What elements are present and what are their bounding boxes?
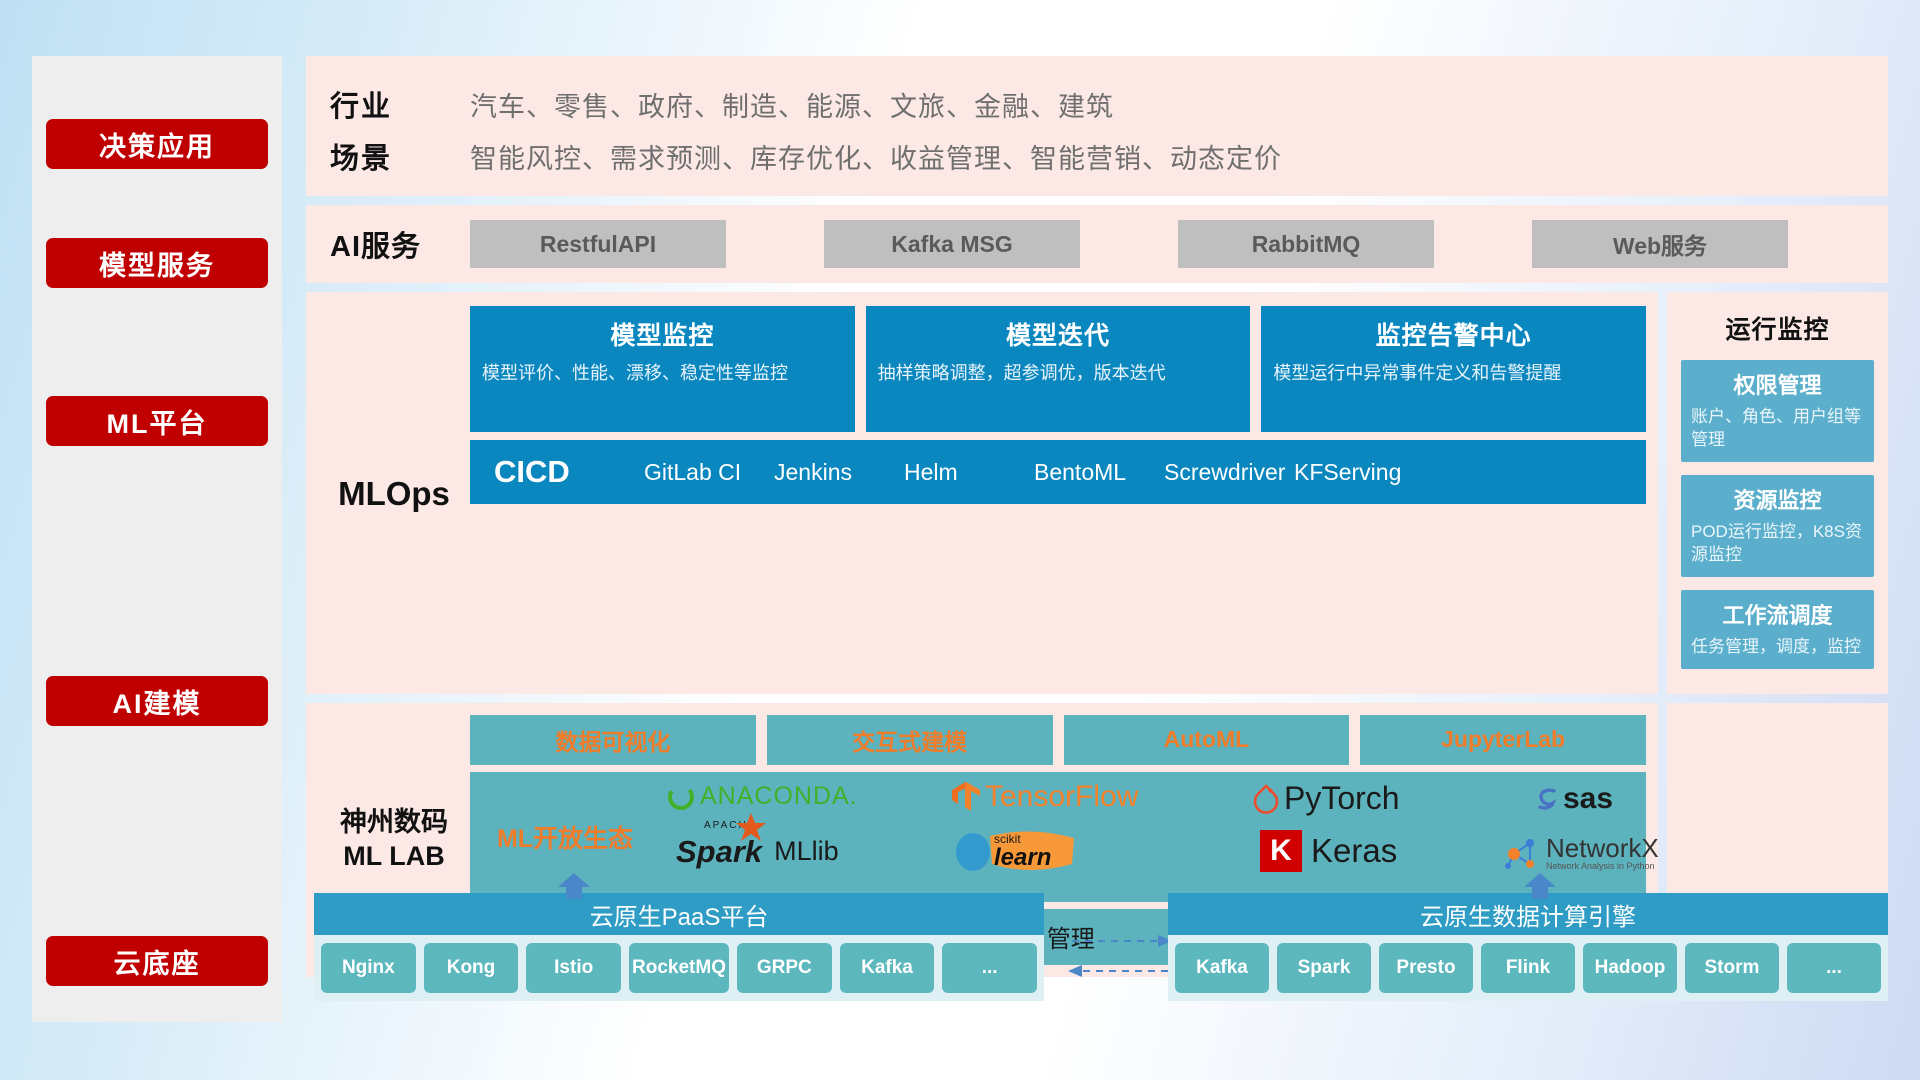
- card-title: 资源监控: [1691, 483, 1864, 515]
- band-mlops: MLOps 模型监控 模型评价、性能、漂移、稳定性等监控 模型迭代 抽样策略调整…: [306, 292, 1658, 694]
- architecture-main: 行业 汽车、零售、政府、制造、能源、文旅、金融、建筑 场景 智能风控、需求预测、…: [306, 56, 1888, 986]
- keras-logo: K Keras: [1260, 830, 1397, 872]
- card-desc: 模型运行中异常事件定义和告警提醒: [1273, 361, 1634, 385]
- up-arrow-icon-data-engine: [1520, 873, 1560, 899]
- mlops-content: 模型监控 模型评价、性能、漂移、稳定性等监控 模型迭代 抽样策略调整，超参调优，…: [470, 306, 1646, 682]
- rail-chip-cloud-base[interactable]: 云底座: [46, 936, 268, 986]
- spark-mllib-logo: APACHE Spark MLlib: [676, 834, 839, 870]
- ai-service-box-kafka-msg[interactable]: Kafka MSG: [824, 220, 1080, 268]
- row-industry: 行业 汽车、零售、政府、制造、能源、文旅、金融、建筑: [330, 78, 1888, 130]
- anaconda-logo: ANACONDA.: [666, 782, 858, 812]
- ml-lab-label-line1: 神州数码: [340, 806, 448, 840]
- rail-chip-ai-modeling[interactable]: AI建模: [46, 676, 268, 726]
- lab-tool-jupyterlab[interactable]: JupyterLab: [1360, 715, 1646, 765]
- ai-service-box-restfulapi[interactable]: RestfulAPI: [470, 220, 726, 268]
- paas-chip-kong[interactable]: Kong: [424, 943, 519, 993]
- pytorch-logo: PyTorch: [1252, 780, 1400, 817]
- lab-tool-group: 数据可视化 交互式建模 AutoML JupyterLab: [470, 715, 1646, 765]
- paas-chip-kafka[interactable]: Kafka: [840, 943, 935, 993]
- lab-eco-label: ML开放生态: [470, 819, 660, 855]
- rail-chip-model-service[interactable]: 模型服务: [46, 238, 268, 288]
- cicd-item-kfserving[interactable]: KFServing: [1294, 461, 1418, 484]
- paas-chip-rocketmq[interactable]: RocketMQ: [629, 943, 729, 993]
- card-desc: 模型评价、性能、漂移、稳定性等监控: [482, 361, 843, 385]
- ai-service-label: AI服务: [330, 223, 470, 265]
- anaconda-icon: [666, 782, 696, 812]
- pytorch-icon: [1252, 782, 1280, 814]
- ai-service-box-web[interactable]: Web服务: [1532, 220, 1788, 268]
- ml-lab-label-line2: ML LAB: [343, 840, 445, 874]
- rail-chip-ml-platform[interactable]: ML平台: [46, 396, 268, 446]
- paas-chip-nginx[interactable]: Nginx: [321, 943, 416, 993]
- paas-chip-group: Nginx Kong Istio RocketMQ GRPC Kafka ...: [314, 935, 1044, 1001]
- keras-label: Keras: [1311, 832, 1397, 870]
- lab-tool-data-visualization[interactable]: 数据可视化: [470, 715, 756, 765]
- tensorflow-logo: TensorFlow: [950, 780, 1138, 814]
- engine-chip-presto[interactable]: Presto: [1379, 943, 1473, 993]
- row-scenario: 场景 智能风控、需求预测、库存优化、收益管理、智能营销、动态定价: [330, 130, 1888, 182]
- card-desc: 任务管理，调度，监控: [1691, 636, 1864, 659]
- card-desc: POD运行监控，K8S资源监控: [1691, 521, 1864, 567]
- paas-chip-more[interactable]: ...: [942, 943, 1037, 993]
- tensorflow-label: TensorFlow: [985, 780, 1138, 814]
- industry-label: 行业: [330, 83, 470, 125]
- cicd-item-jenkins[interactable]: Jenkins: [774, 461, 898, 484]
- row-ml-platform: MLOps 模型监控 模型评价、性能、漂移、稳定性等监控 模型迭代 抽样策略调整…: [306, 292, 1888, 694]
- sas-logo: sas: [1532, 782, 1613, 816]
- cicd-title: CICD: [494, 454, 644, 490]
- sas-label: sas: [1563, 782, 1613, 816]
- monitor-card-permissions[interactable]: 权限管理 账户、角色、用户组等管理: [1681, 360, 1874, 462]
- rail-chip-decision-apps[interactable]: 决策应用: [46, 119, 268, 169]
- band-runtime-monitor: 运行监控 权限管理 账户、角色、用户组等管理 资源监控 POD运行监控，K8S资…: [1667, 292, 1888, 694]
- pytorch-label: PyTorch: [1284, 780, 1400, 817]
- engine-chip-storm[interactable]: Storm: [1685, 943, 1779, 993]
- layer-rail: 决策应用 模型服务 ML平台 AI建模 云底座: [32, 56, 282, 1022]
- engine-chip-more[interactable]: ...: [1787, 943, 1881, 993]
- scikit-learn-logo: scikit learn: [952, 830, 1051, 872]
- card-title: 权限管理: [1691, 368, 1864, 400]
- band-ai-service: AI服务 RestfulAPI Kafka MSG RabbitMQ Web服务: [306, 205, 1888, 283]
- mlops-card-model-monitoring[interactable]: 模型监控 模型评价、性能、漂移、稳定性等监控: [470, 306, 855, 432]
- engine-chip-hadoop[interactable]: Hadoop: [1583, 943, 1677, 993]
- bidirectional-link-icon: [1066, 933, 1174, 979]
- cicd-bar: CICD GitLab CI Jenkins Helm BentoML Scre…: [470, 440, 1646, 504]
- learn-label: learn: [994, 844, 1051, 872]
- card-desc: 抽样策略调整，超参调优，版本迭代: [878, 361, 1239, 385]
- industry-values: 汽车、零售、政府、制造、能源、文旅、金融、建筑: [470, 85, 1114, 124]
- scenario-label: 场景: [330, 135, 470, 177]
- engine-chip-flink[interactable]: Flink: [1481, 943, 1575, 993]
- data-engine-chip-group: Kafka Spark Presto Flink Hadoop Storm ..…: [1168, 935, 1888, 1001]
- keras-mark-icon: K: [1260, 830, 1302, 872]
- data-engine-header: 云原生数据计算引擎: [1168, 893, 1888, 935]
- networkx-logo: NetworkX Network Analysis in Python: [1502, 834, 1659, 872]
- card-title: 工作流调度: [1691, 598, 1864, 630]
- paas-chip-istio[interactable]: Istio: [526, 943, 621, 993]
- anaconda-label: ANACONDA.: [700, 782, 858, 811]
- mllib-label: MLlib: [774, 836, 839, 867]
- band-decision-apps: 行业 汽车、零售、政府、制造、能源、文旅、金融、建筑 场景 智能风控、需求预测、…: [306, 56, 1888, 196]
- mlops-card-alert-center[interactable]: 监控告警中心 模型运行中异常事件定义和告警提醒: [1261, 306, 1646, 432]
- cicd-item-gitlab-ci[interactable]: GitLab CI: [644, 461, 768, 484]
- paas-chip-grpc[interactable]: GRPC: [737, 943, 832, 993]
- networkx-tagline: Network Analysis in Python: [1546, 861, 1659, 871]
- tensorflow-icon: [950, 780, 982, 814]
- up-arrow-icon-paas: [554, 873, 594, 899]
- keras-mark-letter: K: [1270, 834, 1292, 868]
- mlops-card-model-iteration[interactable]: 模型迭代 抽样策略调整，超参调优，版本迭代: [866, 306, 1251, 432]
- card-title: 监控告警中心: [1273, 316, 1634, 352]
- card-desc: 账户、角色、用户组等管理: [1691, 406, 1864, 452]
- sas-icon: [1532, 784, 1562, 814]
- card-title: 模型监控: [482, 316, 843, 352]
- lab-tool-interactive-modeling[interactable]: 交互式建模: [767, 715, 1053, 765]
- ai-service-box-group: RestfulAPI Kafka MSG RabbitMQ Web服务: [470, 220, 1788, 268]
- lab-tool-automl[interactable]: AutoML: [1064, 715, 1350, 765]
- spark-star-icon: [734, 812, 768, 842]
- mlops-card-group: 模型监控 模型评价、性能、漂移、稳定性等监控 模型迭代 抽样策略调整，超参调优，…: [470, 306, 1646, 432]
- card-title: 模型迭代: [878, 316, 1239, 352]
- ai-service-box-rabbitmq[interactable]: RabbitMQ: [1178, 220, 1434, 268]
- engine-chip-spark[interactable]: Spark: [1277, 943, 1371, 993]
- monitor-card-resources[interactable]: 资源监控 POD运行监控，K8S资源监控: [1681, 475, 1874, 577]
- engine-chip-kafka[interactable]: Kafka: [1175, 943, 1269, 993]
- runtime-monitor-title: 运行监控: [1681, 310, 1874, 346]
- paas-header: 云原生PaaS平台: [314, 893, 1044, 935]
- cloud-data-engine-group: 云原生数据计算引擎 Kafka Spark Presto Flink Hadoo…: [1168, 893, 1888, 1001]
- networkx-label: NetworkX: [1546, 835, 1659, 861]
- cicd-item-bentoml[interactable]: BentoML: [1034, 461, 1158, 484]
- networkx-graph-icon: [1502, 834, 1542, 872]
- cicd-item-screwdriver[interactable]: Screwdriver: [1164, 461, 1288, 484]
- layer-cloud-base: 云原生PaaS平台 Nginx Kong Istio RocketMQ GRPC…: [306, 875, 1888, 1025]
- monitor-card-workflow[interactable]: 工作流调度 任务管理，调度，监控: [1681, 590, 1874, 669]
- scenario-values: 智能风控、需求预测、库存优化、收益管理、智能营销、动态定价: [470, 137, 1282, 176]
- cicd-item-helm[interactable]: Helm: [904, 461, 1028, 484]
- cloud-paas-group: 云原生PaaS平台 Nginx Kong Istio RocketMQ GRPC…: [314, 893, 1044, 1001]
- mlops-label: MLOps: [318, 306, 470, 682]
